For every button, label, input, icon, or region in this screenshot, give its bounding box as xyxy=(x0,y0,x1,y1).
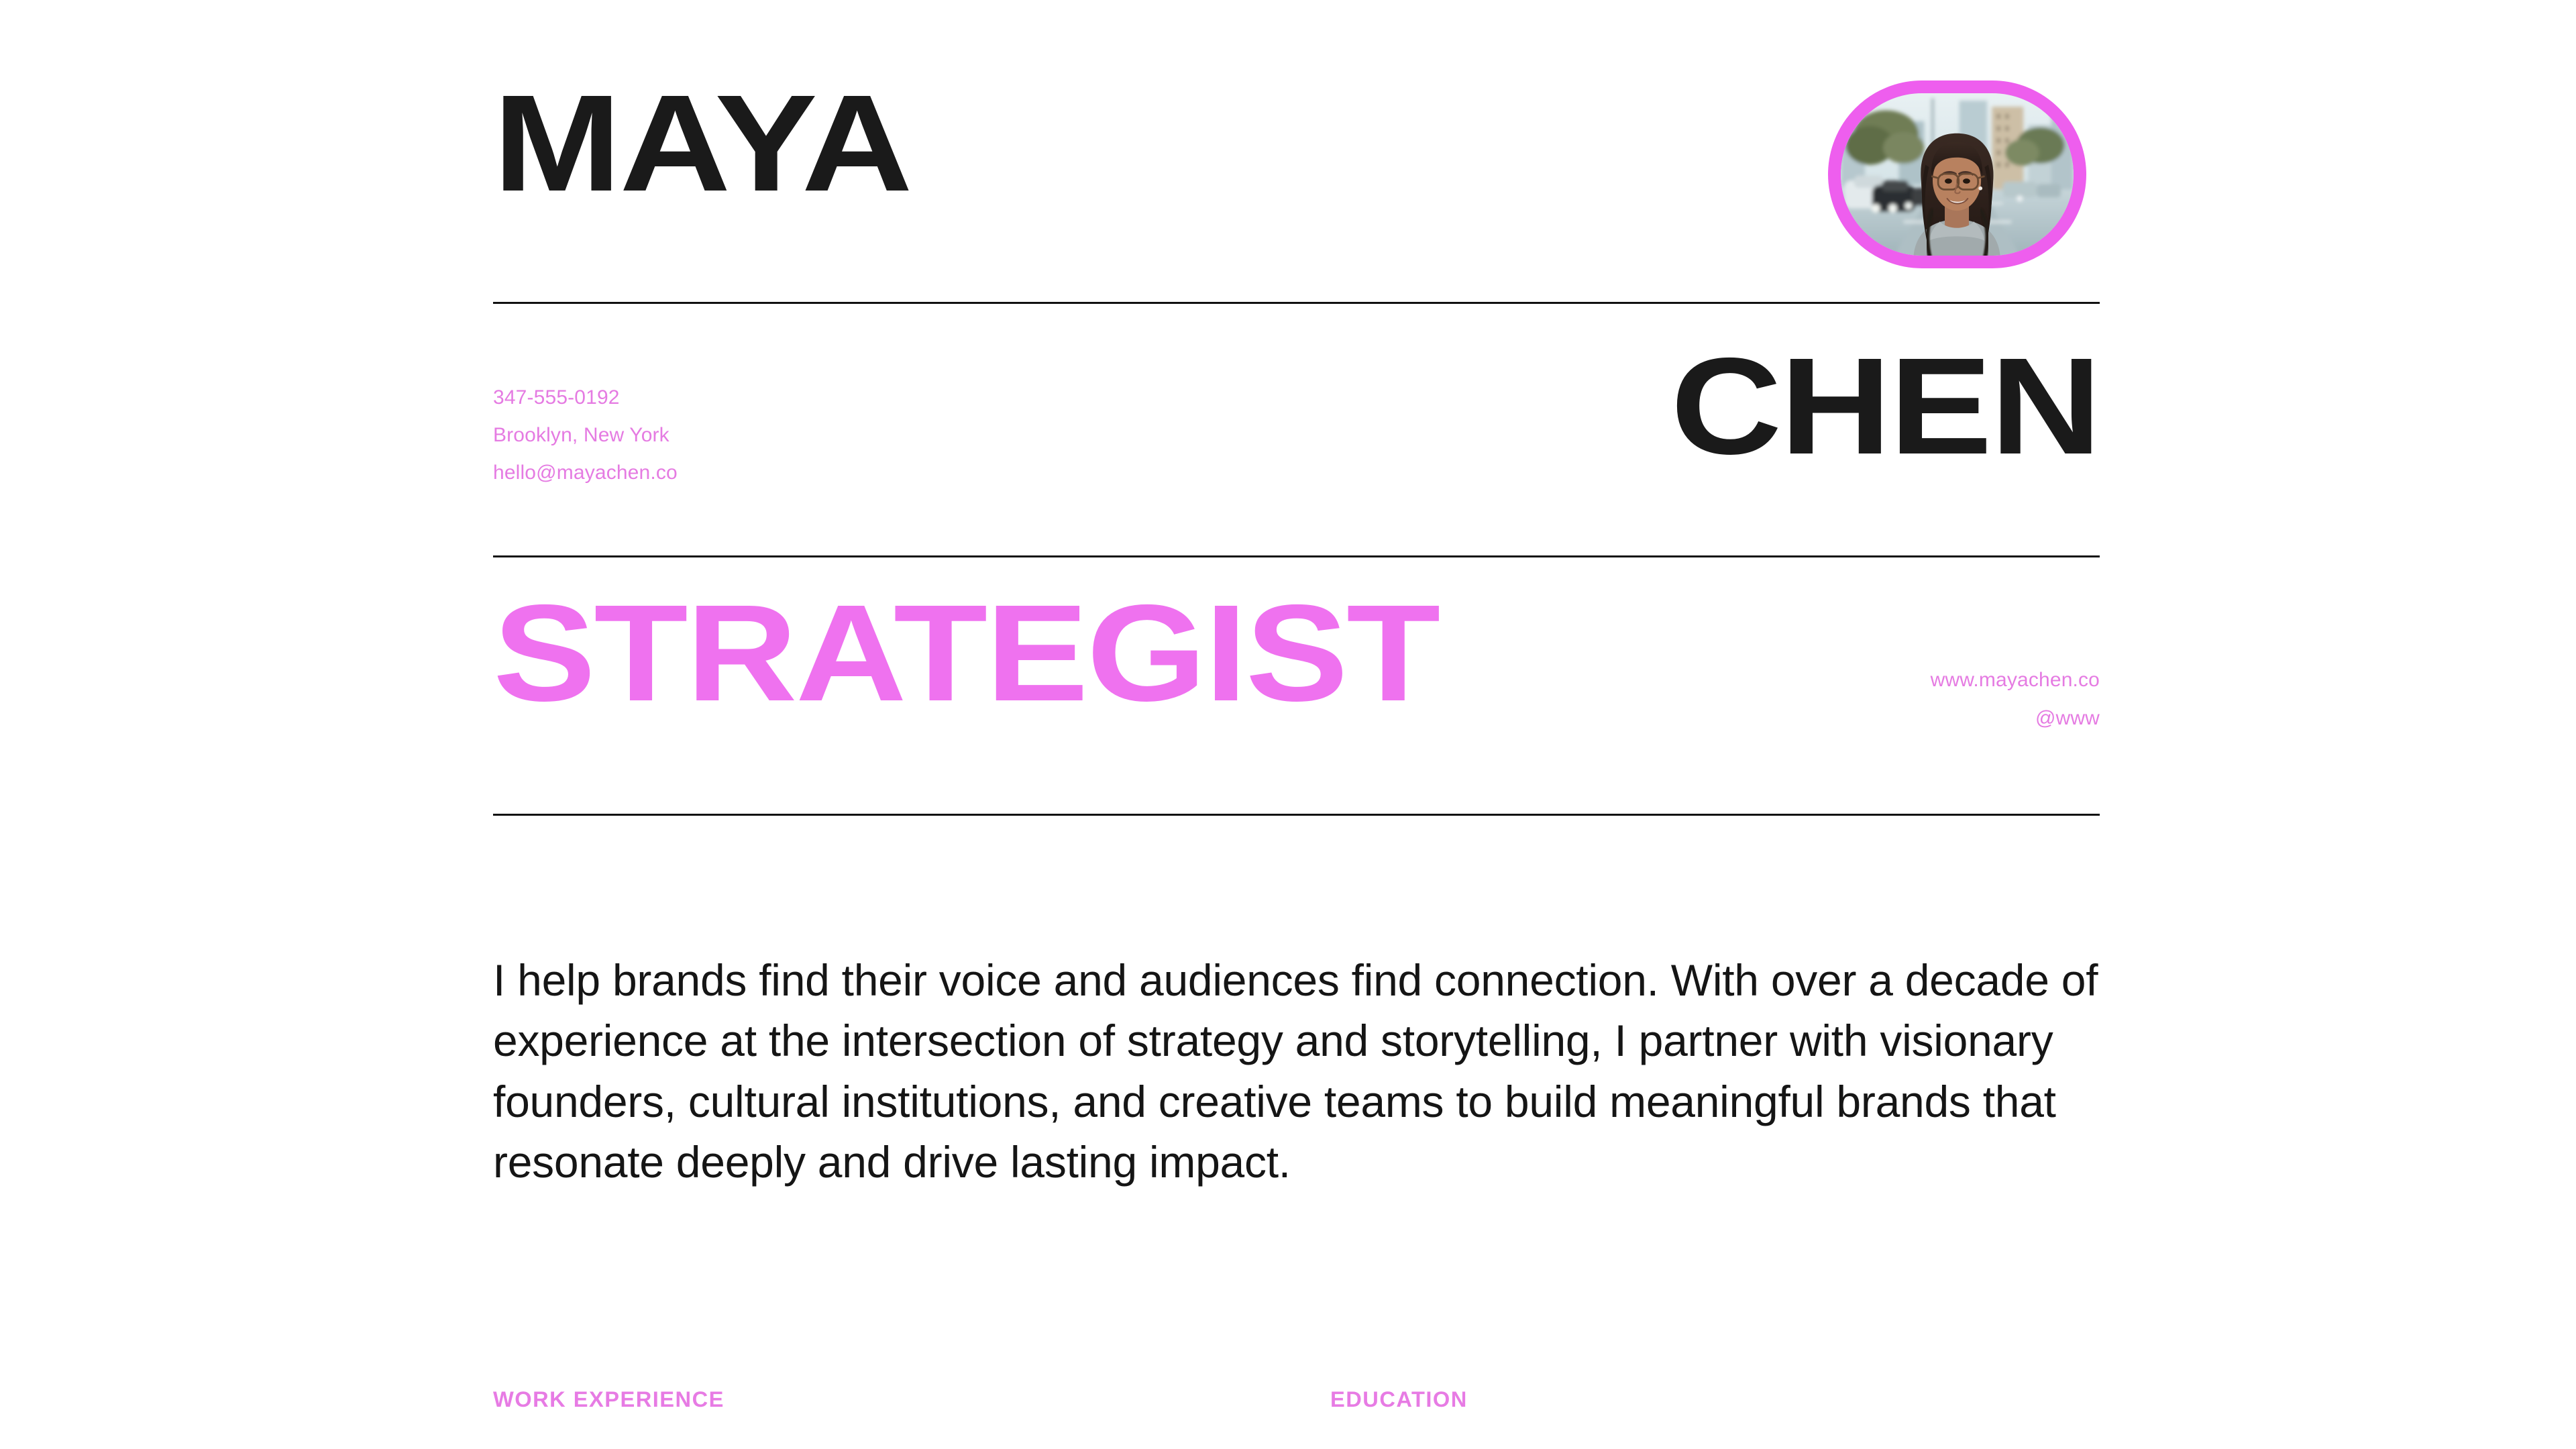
contact-location: Brooklyn, New York xyxy=(493,417,678,454)
role-heading: STRATEGIST xyxy=(493,596,1439,711)
portrait-image xyxy=(1841,93,2074,256)
divider-2 xyxy=(493,555,2100,557)
social-handle[interactable]: @www xyxy=(1931,699,2100,737)
contact-block: 347-555-0192 Brooklyn, New York hello@ma… xyxy=(493,379,678,492)
last-name-heading: CHEN xyxy=(1670,349,2100,464)
avatar xyxy=(1828,80,2086,268)
resume-page: MAYA xyxy=(0,0,2576,1449)
first-name-heading: MAYA xyxy=(493,86,911,201)
avatar-photo xyxy=(1841,93,2074,256)
divider-3 xyxy=(493,814,2100,816)
website-link[interactable]: www.mayachen.co xyxy=(1931,661,2100,699)
section-heading-work-experience: WORK EXPERIENCE xyxy=(493,1387,724,1412)
contact-email[interactable]: hello@mayachen.co xyxy=(493,454,678,492)
section-heading-education: EDUCATION xyxy=(1330,1387,1468,1412)
bio-paragraph: I help brands find their voice and audie… xyxy=(493,950,2103,1193)
divider-1 xyxy=(493,302,2100,304)
contact-phone[interactable]: 347-555-0192 xyxy=(493,379,678,417)
links-block: www.mayachen.co @www xyxy=(1931,661,2100,737)
